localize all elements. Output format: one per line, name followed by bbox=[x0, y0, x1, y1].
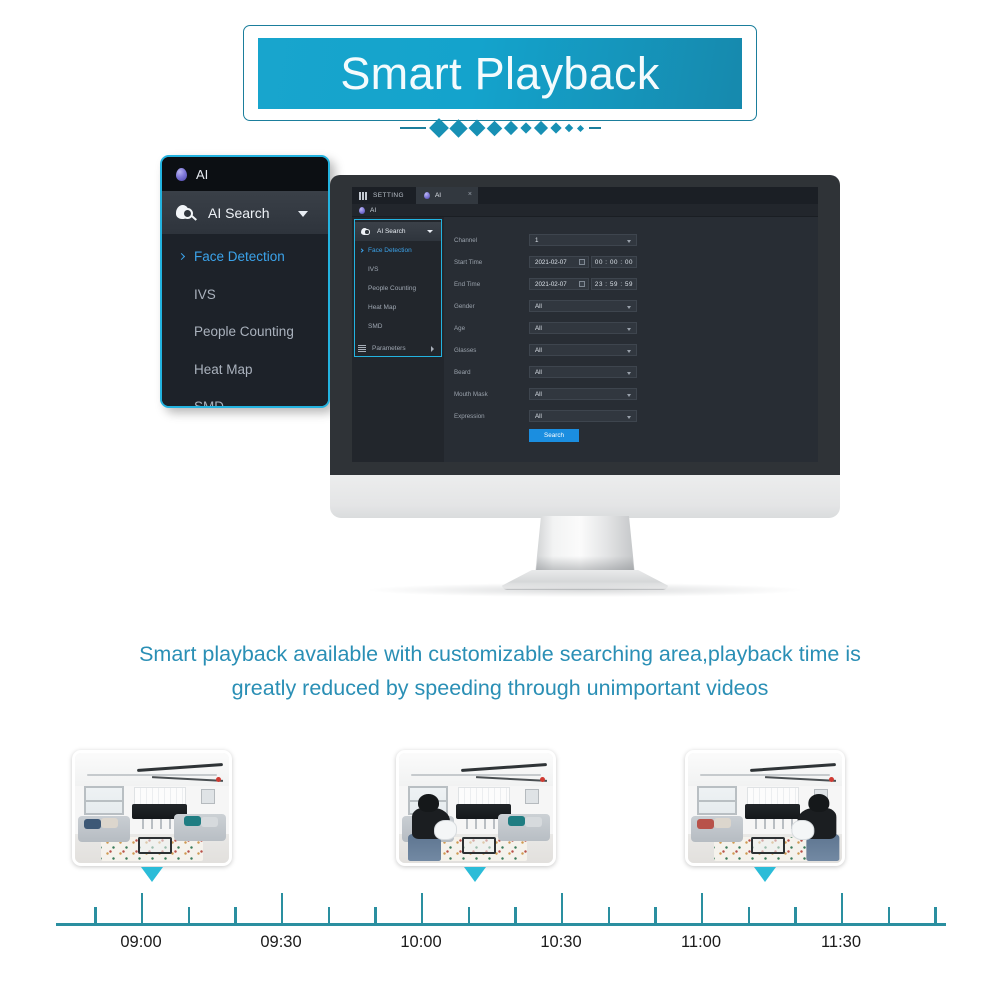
monitor-chin bbox=[330, 475, 840, 518]
timeline-tick-major bbox=[561, 893, 563, 923]
room-scene bbox=[75, 753, 229, 863]
page-root: Smart Playback AI AI Search Face Detecti… bbox=[0, 0, 1000, 1000]
menu-item-people-counting[interactable]: People Counting bbox=[162, 313, 328, 351]
sidebar-item-people-counting[interactable]: People Counting bbox=[352, 279, 444, 298]
start-date-input[interactable]: 2021-02-07 bbox=[529, 256, 589, 268]
chevron-down-icon bbox=[627, 306, 631, 309]
form-row-expression: Expression All bbox=[454, 407, 818, 425]
start-clock-value: 00 : 00 : 00 bbox=[595, 259, 633, 266]
form-row-age: Age All bbox=[454, 319, 818, 337]
start-time-label: Start Time bbox=[454, 259, 529, 266]
banner-diamond-decoration bbox=[368, 116, 632, 140]
menu-item-label: Heat Map bbox=[194, 362, 253, 377]
timeline-tick-minor bbox=[468, 907, 470, 923]
form-row-end-time: End Time 2021-02-07 23 : 59 : 59 bbox=[454, 275, 818, 293]
timeline-tick-label: 10:30 bbox=[540, 933, 581, 952]
timeline-tick-minor bbox=[234, 907, 236, 923]
deco-diamond bbox=[486, 120, 502, 136]
timeline-tick-minor bbox=[608, 907, 610, 923]
menu-item-smd[interactable]: SMD bbox=[162, 388, 328, 408]
nvr-topbar: SETTING AI × bbox=[352, 187, 818, 204]
chevron-down-icon bbox=[627, 328, 631, 331]
timeline-marker bbox=[141, 867, 163, 882]
timeline-tick-label: 11:30 bbox=[821, 933, 861, 952]
nvr-sidebar: AI Search Face Detection IVS People Coun… bbox=[352, 217, 444, 462]
age-label: Age bbox=[454, 325, 529, 332]
timeline-tick-minor bbox=[374, 907, 376, 923]
face-search-icon bbox=[361, 227, 371, 236]
monitor-screen: SETTING AI × AI AI Search bbox=[352, 187, 818, 462]
face-search-form: Channel 1 Start Time 2021-02-07 bbox=[444, 217, 818, 462]
timeline-tick-major bbox=[701, 893, 703, 923]
timeline-tick-minor bbox=[188, 907, 190, 923]
ai-menu-popup: AI AI Search Face Detection IVS People C… bbox=[160, 155, 330, 408]
sidebar-item-face-detection[interactable]: Face Detection bbox=[352, 241, 444, 260]
setting-label: SETTING bbox=[373, 192, 404, 199]
start-clock-input[interactable]: 00 : 00 : 00 bbox=[591, 256, 637, 268]
face-search-icon bbox=[176, 204, 196, 222]
channel-label: Channel bbox=[454, 237, 529, 244]
menu-item-face-detection[interactable]: Face Detection bbox=[162, 238, 328, 276]
timeline-tick-major bbox=[281, 893, 283, 923]
deco-diamond bbox=[520, 122, 531, 133]
nvr-main: AI Search Face Detection IVS People Coun… bbox=[352, 217, 818, 462]
popup-header: AI bbox=[162, 157, 328, 191]
setting-button[interactable]: SETTING bbox=[352, 187, 416, 204]
sidebar-item-label: Face Detection bbox=[368, 247, 412, 254]
menu-item-heat-map[interactable]: Heat Map bbox=[162, 351, 328, 389]
deco-diamond bbox=[468, 120, 485, 137]
form-row-glasses: Glasses All bbox=[454, 341, 818, 359]
empty-room-snapshot[interactable] bbox=[72, 750, 232, 866]
room-scene bbox=[399, 753, 553, 863]
sidebar-item-parameters[interactable]: Parameters bbox=[352, 340, 444, 357]
age-value: All bbox=[535, 325, 542, 332]
intruder-exiting-snapshot[interactable] bbox=[685, 750, 845, 866]
start-time-group: 2021-02-07 00 : 00 : 00 bbox=[529, 256, 637, 268]
ai-search-label: AI Search bbox=[208, 205, 269, 221]
ai-blob-icon bbox=[176, 168, 187, 181]
chevron-down-icon bbox=[627, 350, 631, 353]
playback-timeline[interactable]: 09:0009:3010:0010:3011:0011:30 bbox=[56, 923, 946, 983]
grid-icon bbox=[359, 192, 367, 200]
deco-diamond bbox=[533, 121, 547, 135]
mouth-mask-value: All bbox=[535, 391, 542, 398]
sidebar-item-label: Heat Map bbox=[368, 304, 396, 311]
triangle-right-icon bbox=[431, 346, 434, 352]
menu-item-ivs[interactable]: IVS bbox=[162, 276, 328, 314]
menu-item-label: Face Detection bbox=[194, 249, 285, 264]
deco-diamond bbox=[550, 122, 561, 133]
chevron-down-icon bbox=[427, 230, 433, 233]
close-icon[interactable]: × bbox=[468, 191, 472, 198]
tab-ai[interactable]: AI × bbox=[416, 187, 478, 204]
intruder-figure bbox=[793, 793, 845, 861]
expression-value: All bbox=[535, 413, 542, 420]
beard-select[interactable]: All bbox=[529, 366, 637, 378]
menu-item-label: People Counting bbox=[194, 324, 294, 339]
start-date-value: 2021-02-07 bbox=[535, 259, 567, 266]
ai-blob-icon bbox=[424, 192, 430, 199]
deco-line bbox=[400, 127, 426, 129]
form-row-gender: Gender All bbox=[454, 297, 818, 315]
calendar-icon[interactable] bbox=[579, 259, 585, 265]
breadcrumb-label: AI bbox=[370, 207, 376, 214]
timeline-tick-minor bbox=[794, 907, 796, 923]
deco-diamond bbox=[564, 124, 572, 132]
sidebar-ai-search-dropdown[interactable]: AI Search bbox=[355, 222, 441, 241]
expression-label: Expression bbox=[454, 413, 529, 420]
menu-item-label: SMD bbox=[194, 399, 224, 408]
glasses-value: All bbox=[535, 347, 542, 354]
chevron-right-icon bbox=[178, 253, 185, 260]
deco-diamond bbox=[576, 124, 583, 131]
sidebar-item-label: People Counting bbox=[368, 285, 416, 292]
form-row-beard: Beard All bbox=[454, 363, 818, 381]
timeline-marker bbox=[464, 867, 486, 882]
caption-text: Smart playback available with customizab… bbox=[40, 637, 960, 705]
timeline-tick-major bbox=[421, 893, 423, 923]
page-title: Smart Playback bbox=[258, 38, 742, 109]
age-select[interactable]: All bbox=[529, 322, 637, 334]
tab-label: AI bbox=[435, 192, 441, 199]
expression-select[interactable]: All bbox=[529, 410, 637, 422]
gender-label: Gender bbox=[454, 303, 529, 310]
end-time-label: End Time bbox=[454, 281, 529, 288]
glasses-select[interactable]: All bbox=[529, 344, 637, 356]
caption-line-1: Smart playback available with customizab… bbox=[40, 637, 960, 671]
mouth-mask-select[interactable]: All bbox=[529, 388, 637, 400]
monitor-shadow bbox=[370, 583, 800, 597]
channel-select[interactable]: 1 bbox=[529, 234, 637, 246]
beard-label: Beard bbox=[454, 369, 529, 376]
popup-header-label: AI bbox=[196, 167, 208, 182]
timeline-tick-minor bbox=[94, 907, 96, 923]
calendar-icon[interactable] bbox=[579, 281, 585, 287]
chevron-down-icon bbox=[627, 372, 631, 375]
list-icon bbox=[358, 345, 366, 353]
gender-value: All bbox=[535, 303, 542, 310]
nvr-breadcrumb: AI bbox=[352, 204, 818, 217]
timeline-tick-major bbox=[141, 893, 143, 923]
chevron-down-icon bbox=[298, 211, 308, 217]
mouth-mask-label: Mouth Mask bbox=[454, 391, 529, 398]
sidebar-item-label: Parameters bbox=[372, 345, 406, 352]
end-date-value: 2021-02-07 bbox=[535, 281, 567, 288]
timeline-marker bbox=[754, 867, 776, 882]
deco-diamond bbox=[449, 119, 467, 137]
form-row-channel: Channel 1 bbox=[454, 231, 818, 249]
timeline-tick-label: 09:30 bbox=[260, 933, 301, 952]
timeline-tick-label: 10:00 bbox=[400, 933, 441, 952]
beard-value: All bbox=[535, 369, 542, 376]
room-scene bbox=[688, 753, 842, 863]
timeline-tick-major bbox=[841, 893, 843, 923]
timeline-tick-minor bbox=[748, 907, 750, 923]
deco-line bbox=[589, 127, 601, 129]
deco-diamond bbox=[429, 118, 449, 138]
ai-search-dropdown[interactable]: AI Search bbox=[162, 191, 328, 234]
timeline-tick-minor bbox=[514, 907, 516, 923]
timeline-tick-minor bbox=[654, 907, 656, 923]
sidebar-item-heat-map[interactable]: Heat Map bbox=[352, 298, 444, 317]
intruder-figure bbox=[402, 793, 454, 861]
search-button[interactable]: Search bbox=[529, 429, 579, 442]
timeline-tick-minor bbox=[888, 907, 890, 923]
gender-select[interactable]: All bbox=[529, 300, 637, 312]
caption-line-2: greatly reduced by speeding through unim… bbox=[40, 671, 960, 705]
sidebar-ai-search-label: AI Search bbox=[377, 228, 406, 235]
end-clock-value: 23 : 59 : 59 bbox=[595, 281, 633, 288]
sidebar-item-label: IVS bbox=[368, 266, 378, 273]
end-clock-input[interactable]: 23 : 59 : 59 bbox=[591, 278, 637, 290]
form-row-mouth-mask: Mouth Mask All bbox=[454, 385, 818, 403]
chevron-right-icon bbox=[359, 248, 363, 252]
sidebar-item-ivs[interactable]: IVS bbox=[352, 260, 444, 279]
timeline-tick-label: 09:00 bbox=[120, 933, 161, 952]
sidebar-item-smd[interactable]: SMD bbox=[352, 317, 444, 336]
popup-menu-list: Face Detection IVS People Counting Heat … bbox=[162, 234, 328, 408]
timeline-tick-minor bbox=[328, 907, 330, 923]
chevron-down-icon bbox=[627, 240, 631, 243]
glasses-label: Glasses bbox=[454, 347, 529, 354]
sidebar-item-label: SMD bbox=[368, 323, 382, 330]
chevron-down-icon bbox=[627, 394, 631, 397]
end-date-input[interactable]: 2021-02-07 bbox=[529, 278, 589, 290]
form-row-start-time: Start Time 2021-02-07 00 : 00 : 00 bbox=[454, 253, 818, 271]
deco-diamond bbox=[503, 121, 517, 135]
timeline-axis bbox=[56, 923, 946, 926]
timeline-tick-label: 11:00 bbox=[681, 933, 721, 952]
end-time-group: 2021-02-07 23 : 59 : 59 bbox=[529, 278, 637, 290]
menu-item-label: IVS bbox=[194, 287, 216, 302]
timeline-tick-minor bbox=[934, 907, 936, 923]
chevron-down-icon bbox=[627, 416, 631, 419]
ai-blob-icon bbox=[359, 207, 365, 214]
channel-value: 1 bbox=[535, 237, 538, 244]
intruder-entering-snapshot[interactable] bbox=[396, 750, 556, 866]
